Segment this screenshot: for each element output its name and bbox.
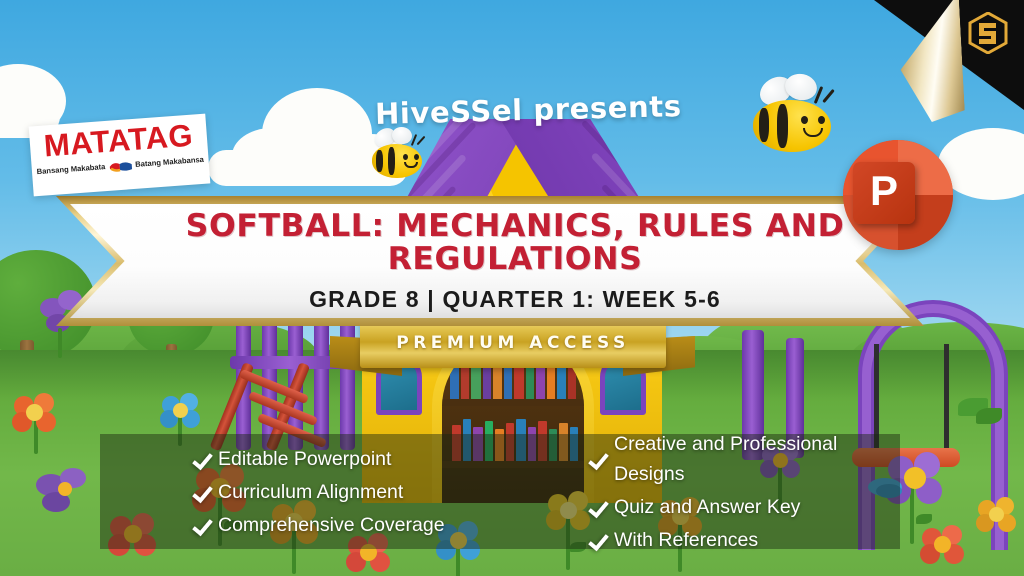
features-list: Editable Powerpoint Curriculum Alignment… [100, 436, 900, 548]
bee-large [745, 80, 845, 165]
powerpoint-letter: P [853, 162, 915, 224]
feature-item: Comprehensive Coverage [192, 510, 504, 540]
matatag-logo: MATATAG Bansang Makabata Batang Makabans… [29, 114, 211, 197]
hivessel-hex-logo-icon [968, 12, 1008, 54]
matatag-tagline-right: Batang Makabansa [135, 155, 204, 169]
feature-label: Creative and Professional Designs [614, 429, 900, 489]
check-icon [588, 450, 607, 469]
check-icon [192, 516, 211, 535]
feature-label: Curriculum Alignment [218, 477, 403, 507]
check-icon [192, 483, 211, 502]
check-icon [192, 450, 211, 469]
feature-item: Quiz and Answer Key [588, 492, 900, 522]
feature-label: Comprehensive Coverage [218, 510, 445, 540]
feature-item: With References [588, 525, 900, 555]
feature-label: With References [614, 525, 758, 555]
premium-access-ribbon: PREMIUM ACCESS [330, 318, 695, 380]
features-column-left: Editable Powerpoint Curriculum Alignment… [100, 436, 504, 548]
bee-small [368, 131, 430, 185]
feature-label: Editable Powerpoint [218, 444, 391, 474]
feature-item: Editable Powerpoint [192, 444, 504, 474]
feature-item: Curriculum Alignment [192, 477, 504, 507]
feature-label: Quiz and Answer Key [614, 492, 800, 522]
matatag-tagline-left: Bansang Makabata [36, 162, 105, 176]
page-subtitle: GRADE 8 | QUARTER 1: WEEK 5-6 [309, 286, 721, 313]
page-title: SOFTBALL: MECHANICS, RULES AND REGULATIO… [120, 210, 910, 276]
check-icon [588, 498, 607, 517]
feature-item: Creative and Professional Designs [588, 429, 900, 489]
features-column-right: Creative and Professional Designs Quiz a… [504, 436, 900, 548]
powerpoint-icon: P [843, 140, 953, 250]
clasped-hands-icon [108, 158, 133, 173]
title-block: SOFTBALL: MECHANICS, RULES AND REGULATIO… [120, 208, 910, 314]
promo-slide: Editable Powerpoint Curriculum Alignment… [0, 0, 1024, 576]
check-icon [588, 531, 607, 550]
